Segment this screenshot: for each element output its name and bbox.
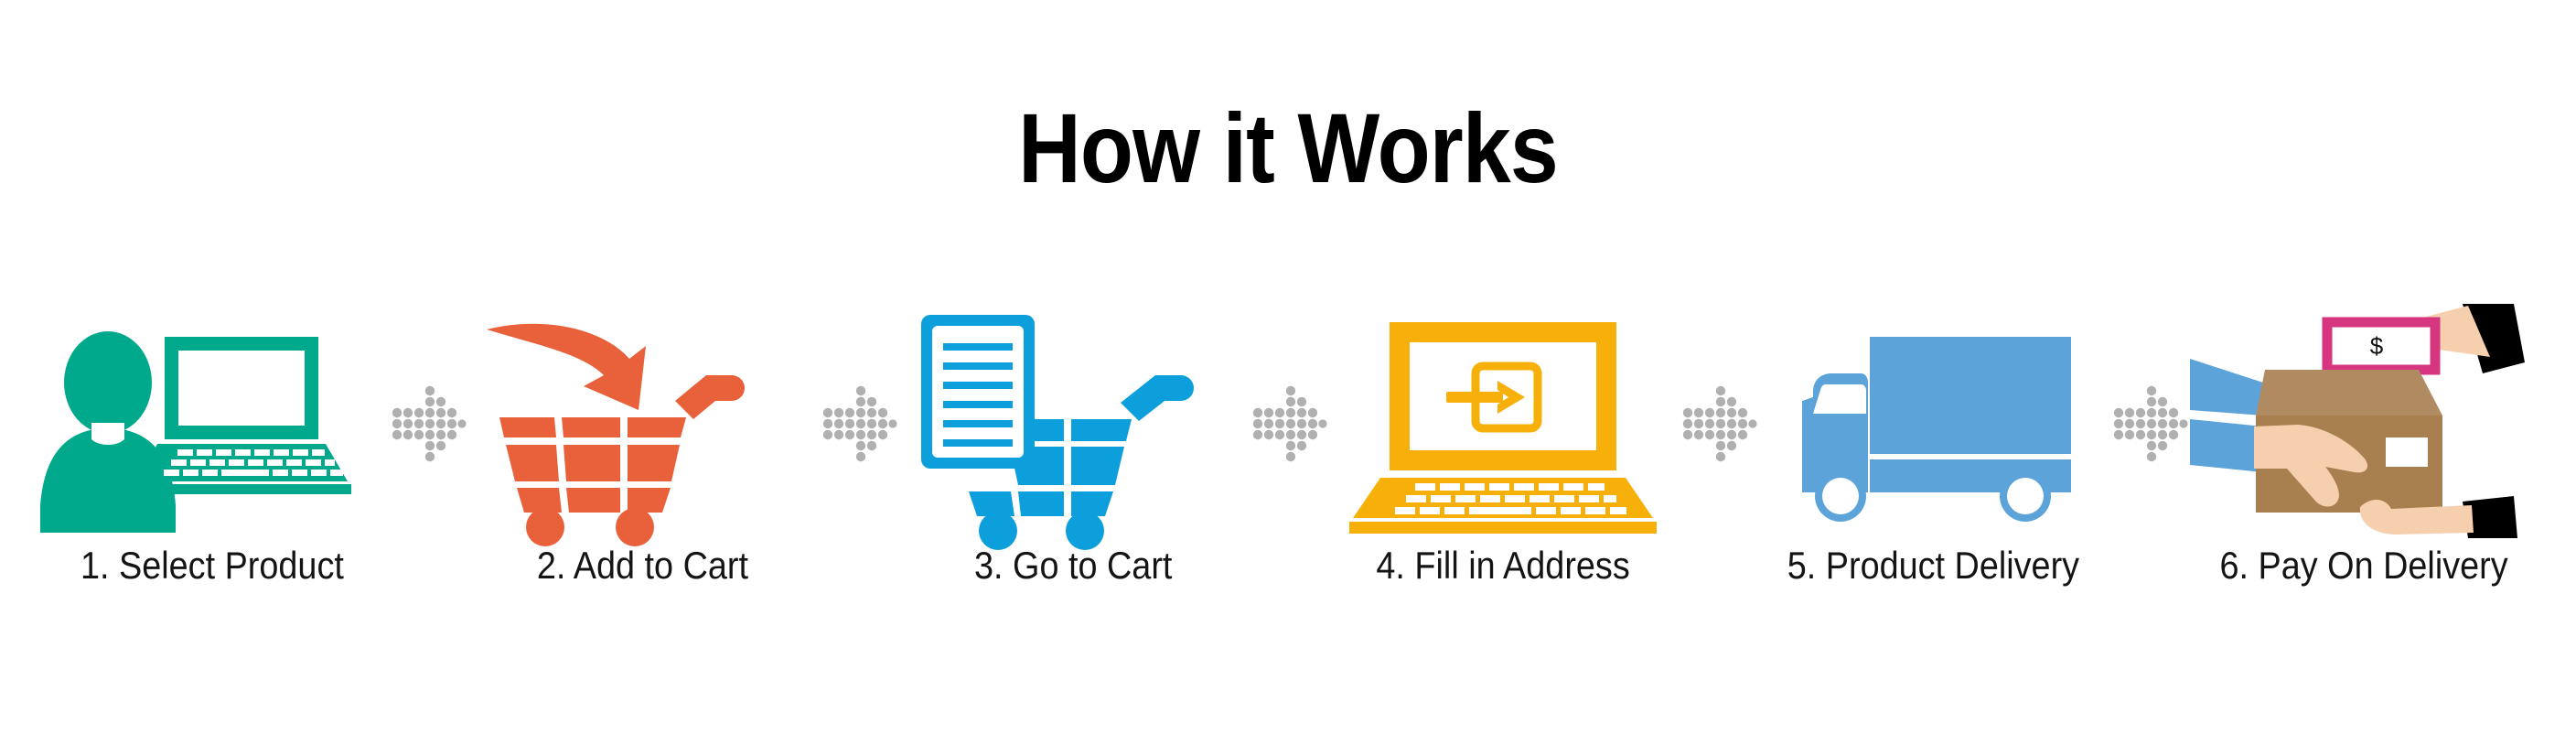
step-5-product-delivery[interactable]: 5. Product Delivery <box>1758 302 2109 632</box>
dotted-arrow-right-icon <box>1252 302 1324 540</box>
delivery-truck-icon <box>1758 302 2109 540</box>
step-6-pay-on-delivery[interactable]: $ <box>2188 302 2539 632</box>
dotted-arrow-right-icon <box>822 302 894 540</box>
hands-exchanging-box-and-cash-icon: $ <box>2188 302 2539 540</box>
step-label: 3. Go to Cart <box>974 545 1172 586</box>
step-label: 1. Select Product <box>80 545 344 586</box>
page-title: How it Works <box>155 99 2421 198</box>
cart-with-arrow-icon <box>467 302 818 540</box>
person-at-laptop-icon <box>37 302 388 540</box>
document-and-cart-icon <box>897 302 1249 540</box>
steps-strip: 1. Select Product <box>37 302 2539 632</box>
step-2-add-to-cart[interactable]: 2. Add to Cart <box>467 302 818 632</box>
banknote: $ <box>2327 322 2435 370</box>
dotted-arrow-right-icon <box>392 302 463 540</box>
step-label: 4. Fill in Address <box>1376 545 1629 586</box>
dotted-arrow-right-icon <box>1682 302 1754 540</box>
step-label: 6. Pay On Delivery <box>2219 545 2507 586</box>
step-4-fill-in-address[interactable]: 4. Fill in Address <box>1327 302 1679 632</box>
dotted-arrow-right-icon <box>2113 302 2184 540</box>
step-3-go-to-cart[interactable]: 3. Go to Cart <box>897 302 1249 632</box>
step-label: 5. Product Delivery <box>1787 545 2079 586</box>
laptop-login-arrow-icon <box>1327 302 1679 540</box>
how-it-works-infographic: How it Works <box>0 0 2576 745</box>
currency-symbol: $ <box>2370 332 2384 360</box>
step-1-select-product[interactable]: 1. Select Product <box>37 302 388 632</box>
step-label: 2. Add to Cart <box>537 545 748 586</box>
